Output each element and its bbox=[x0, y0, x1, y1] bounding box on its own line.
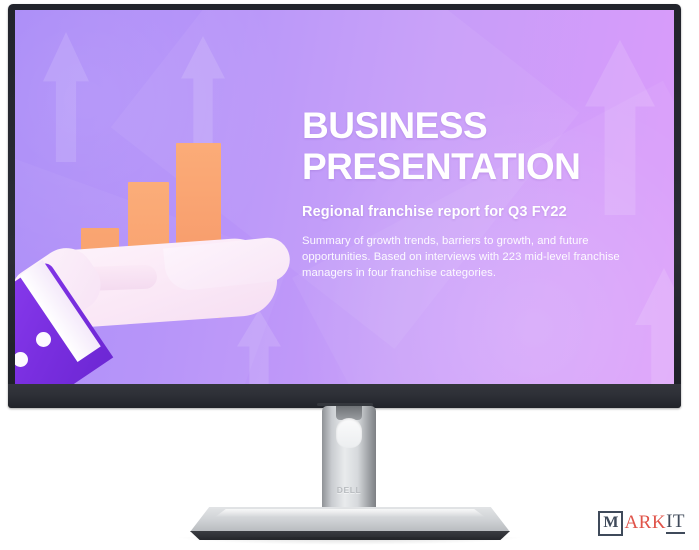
slide-title-line-2: PRESENTATION bbox=[302, 146, 580, 187]
slide-title-line-1: BUSINESS bbox=[302, 105, 487, 146]
slide-body-text: Summary of growth trends, barriers to gr… bbox=[302, 233, 652, 281]
stand-brand-logo: DELL bbox=[322, 485, 376, 495]
watermark-logo: M ARK IT bbox=[598, 510, 685, 536]
hand-holding-bar-chart-illustration bbox=[15, 10, 305, 388]
monitor: BUSINESS PRESENTATION Regional franchise… bbox=[8, 4, 681, 408]
watermark-end-text: IT bbox=[666, 512, 685, 534]
watermark-mid-text: ARK bbox=[624, 512, 666, 534]
stand-cable-management-hole bbox=[336, 418, 362, 448]
slide-text-block: BUSINESS PRESENTATION Regional franchise… bbox=[302, 106, 660, 281]
cuff-button-1 bbox=[36, 332, 51, 347]
watermark-boxed-letter: M bbox=[598, 511, 623, 536]
page-title: BUSINESS PRESENTATION bbox=[302, 106, 660, 187]
up-arrow-icon bbox=[635, 268, 674, 388]
monitor-bottom-bezel bbox=[8, 384, 681, 408]
monitor-stand-base-front-edge bbox=[190, 531, 510, 540]
slide-subtitle: Regional franchise report for Q3 FY22 bbox=[302, 204, 660, 220]
monitor-screen: BUSINESS PRESENTATION Regional franchise… bbox=[15, 10, 674, 388]
